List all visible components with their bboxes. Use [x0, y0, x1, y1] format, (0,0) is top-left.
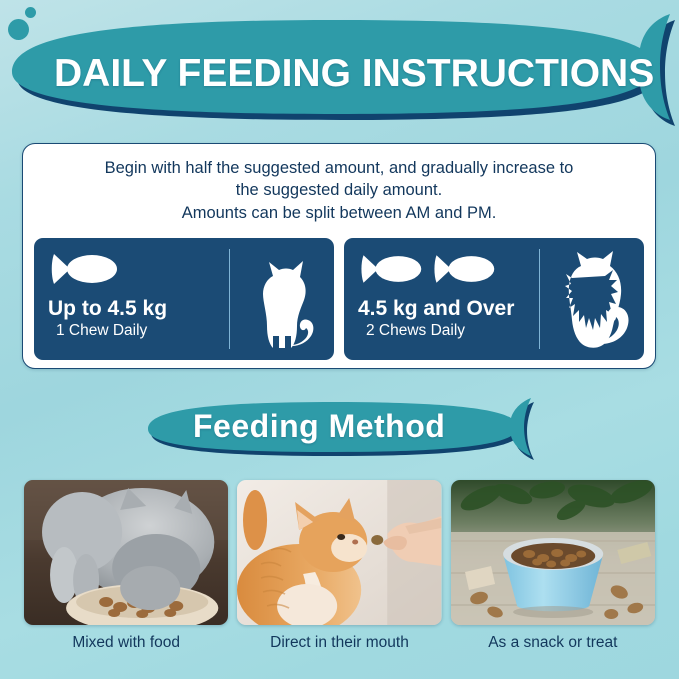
- instruction-text-block: Begin with half the suggested amount, an…: [43, 157, 635, 224]
- fish-icon: [431, 251, 497, 287]
- photo-card-direct-in-mouth: Direct in their mouth: [237, 480, 441, 652]
- instruction-line-1: Begin with half the suggested amount, an…: [43, 157, 635, 179]
- weight-card-heavy-cat: [540, 238, 644, 360]
- weight-card-light: Up to 4.5 kg 1 Chew Daily: [34, 238, 334, 360]
- fish-icon-group-double: [358, 247, 539, 291]
- weight-card-heavy: 4.5 kg and Over 2 Chews Daily: [344, 238, 644, 360]
- weight-card-light-dose: 1 Chew Daily: [56, 322, 229, 340]
- weight-card-light-weight: Up to 4.5 kg: [48, 297, 229, 321]
- weight-card-heavy-weight: 4.5 kg and Over: [358, 297, 539, 321]
- orange-cat-taking-treat-from-hand-photo: [237, 480, 441, 625]
- feeding-method-photos-row: Mixed with food: [24, 480, 655, 652]
- weight-card-heavy-info: 4.5 kg and Over 2 Chews Daily: [344, 238, 539, 360]
- feeding-method-title: Feeding Method: [193, 408, 445, 445]
- weight-card-light-info: Up to 4.5 kg 1 Chew Daily: [34, 238, 229, 360]
- photo-caption-mixed-with-food: Mixed with food: [24, 634, 228, 652]
- fish-icon: [48, 250, 120, 288]
- photo-caption-snack-or-treat: As a snack or treat: [451, 634, 655, 652]
- photo-card-snack-or-treat: As a snack or treat: [451, 480, 655, 652]
- long-hair-cat-icon: [551, 250, 633, 358]
- instruction-line-2: the suggested daily amount.: [43, 179, 635, 201]
- fish-icon-group-single: [48, 247, 229, 291]
- photo-card-mixed-with-food: Mixed with food: [24, 480, 228, 652]
- weight-card-light-cat: [230, 238, 334, 360]
- weight-cards-row: Up to 4.5 kg 1 Chew Daily: [34, 238, 644, 360]
- short-hair-cat-icon: [245, 258, 319, 358]
- weight-card-heavy-dose: 2 Chews Daily: [366, 322, 539, 340]
- header-banner: DAILY FEEDING INSTRUCTIONS: [6, 8, 678, 126]
- page-title: DAILY FEEDING INSTRUCTIONS: [54, 52, 654, 96]
- instruction-line-3: Amounts can be split between AM and PM.: [43, 202, 635, 224]
- blue-bowl-with-kibble-photo: [451, 480, 655, 625]
- photo-caption-direct-in-mouth: Direct in their mouth: [237, 634, 441, 652]
- fish-icon: [358, 251, 424, 287]
- instruction-panel: Begin with half the suggested amount, an…: [22, 143, 656, 369]
- grey-cat-eating-from-bowl-photo: [24, 480, 228, 625]
- feeding-method-banner: Feeding Method: [145, 396, 535, 458]
